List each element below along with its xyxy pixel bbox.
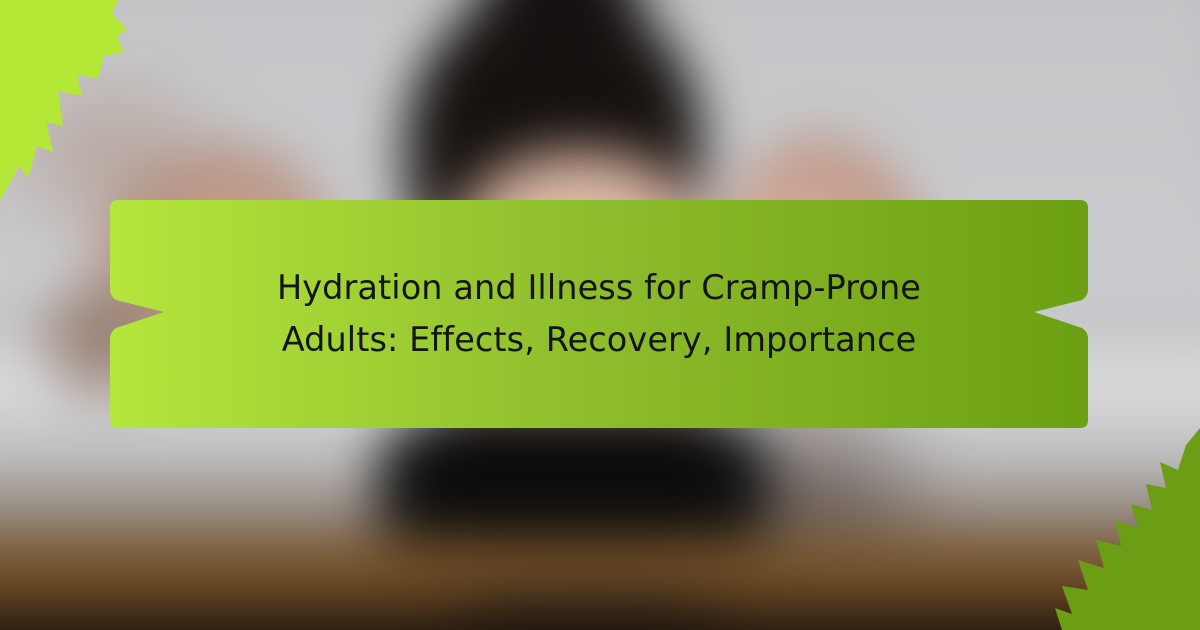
title-line-2: Adults: Effects, Recovery, Importance bbox=[282, 314, 917, 366]
title-block: Hydration and Illness for Cramp-Prone Ad… bbox=[108, 194, 1090, 434]
background-floor bbox=[0, 615, 1200, 630]
title-line-1: Hydration and Illness for Cramp-Prone bbox=[277, 262, 921, 314]
social-share-card: Hydration and Illness for Cramp-Prone Ad… bbox=[0, 0, 1200, 630]
